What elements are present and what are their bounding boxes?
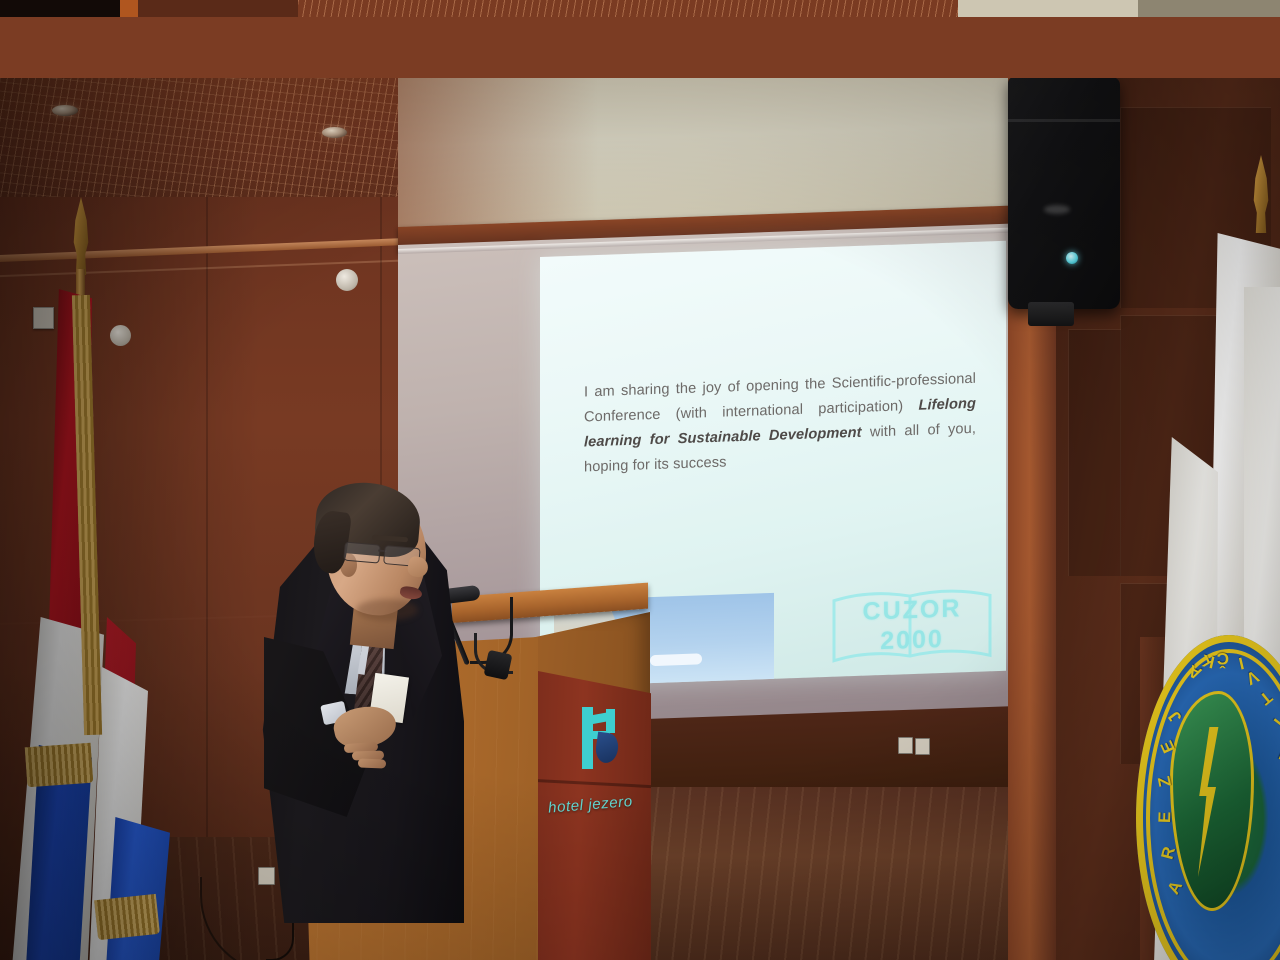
- wall-spot-fixture: [336, 269, 358, 291]
- cuzor-logo-line-2: 2000: [828, 623, 996, 658]
- ceiling-downlight: [322, 127, 347, 138]
- emblem-letter: V: [1243, 665, 1262, 688]
- flag-fringe-bottom: [25, 743, 94, 788]
- croatian-flag: [0, 197, 190, 960]
- hj-mark-droplet: [594, 732, 620, 765]
- wall-panel: [1068, 329, 1121, 576]
- emblem-letter: I: [1269, 714, 1280, 730]
- speaker-glare: [1044, 205, 1070, 214]
- finger: [358, 759, 386, 769]
- podium-shelf-edge: [533, 779, 651, 788]
- emblem-letter: E: [1157, 737, 1180, 756]
- cuzor-2000-logo: CUZOR 2000: [828, 581, 996, 671]
- plitvice-national-park-flag: NP·PLITVIČKA JEZERA park: [1140, 137, 1280, 960]
- emblem-letter: A: [1164, 878, 1187, 898]
- photo-scene: I am sharing the joy of opening the Scie…: [0, 0, 1280, 960]
- cuzor-logo-line-1: CUZOR: [828, 593, 996, 628]
- hj-mark-right-stem: [606, 709, 615, 733]
- emblem-letter: A: [1185, 660, 1205, 683]
- emblem-letter: Č: [1217, 648, 1229, 668]
- plitvice-emblem: NP·PLITVIČKA JEZERA: [1136, 635, 1280, 960]
- conference-room: I am sharing the joy of opening the Scie…: [0, 77, 1280, 960]
- slide-cloud: [650, 653, 702, 666]
- wall-outlet[interactable]: [915, 738, 930, 755]
- speaker-power-led: [1066, 252, 1078, 264]
- slide-body-text: I am sharing the joy of opening the Scie…: [584, 367, 976, 481]
- ceiling-downlight: [52, 105, 78, 116]
- hj-mark-stem: [582, 707, 593, 769]
- projected-slide: I am sharing the joy of opening the Scie…: [540, 241, 1006, 687]
- emblem-letter: J: [1165, 707, 1187, 727]
- hotel-jezero-monogram-icon: [576, 707, 620, 769]
- flag-fringe-bottom: [94, 894, 160, 940]
- emblem-letter: Z: [1154, 774, 1176, 788]
- speaker-seam: [1008, 119, 1120, 122]
- flag-finial-icon: [1248, 155, 1274, 233]
- speaker-mount-bracket: [1028, 302, 1074, 326]
- presenter: [248, 407, 518, 960]
- emblem-letter: I: [1237, 652, 1246, 673]
- eyeglass-lens-left: [343, 542, 381, 564]
- chin-shadow: [356, 599, 418, 621]
- emblem-letter: E: [1155, 811, 1175, 823]
- emblem-lettering: NP·PLITVIČKA JEZERA: [1136, 635, 1280, 960]
- emblem-letter: L: [1274, 748, 1280, 766]
- wall-loudspeaker: [1008, 77, 1120, 309]
- flag-finial-icon: [68, 197, 94, 275]
- wall-outlet[interactable]: [898, 737, 913, 754]
- top-brown-bar: [0, 17, 1280, 78]
- top-photo-sliver: [0, 0, 1280, 18]
- emblem-letter: T: [1255, 687, 1276, 709]
- emblem-letter: R: [1157, 845, 1179, 862]
